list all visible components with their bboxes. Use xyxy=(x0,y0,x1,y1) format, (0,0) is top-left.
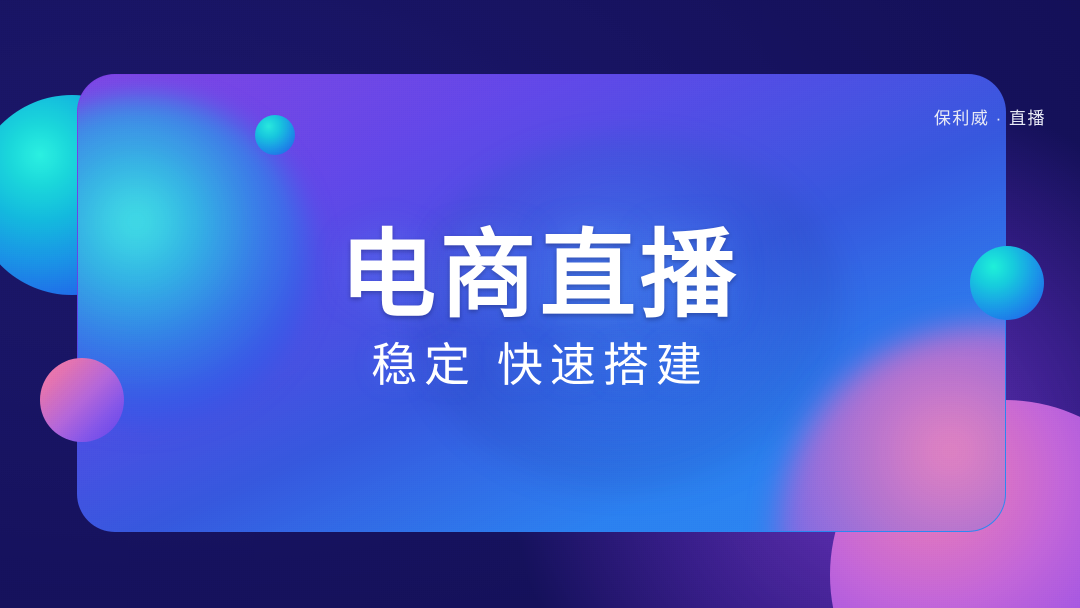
page-title: 电商直播 xyxy=(0,228,1080,324)
title-block: 电商直播 稳定 快速搭建 xyxy=(0,228,1080,391)
slide-canvas: 电商直播 稳定 快速搭建 保利威 · 直播 xyxy=(0,0,1080,608)
brand-label: 保利威 · 直播 xyxy=(934,104,1046,129)
page-subtitle: 稳定 快速搭建 xyxy=(0,340,1080,391)
cyan-sphere-small xyxy=(255,115,295,155)
